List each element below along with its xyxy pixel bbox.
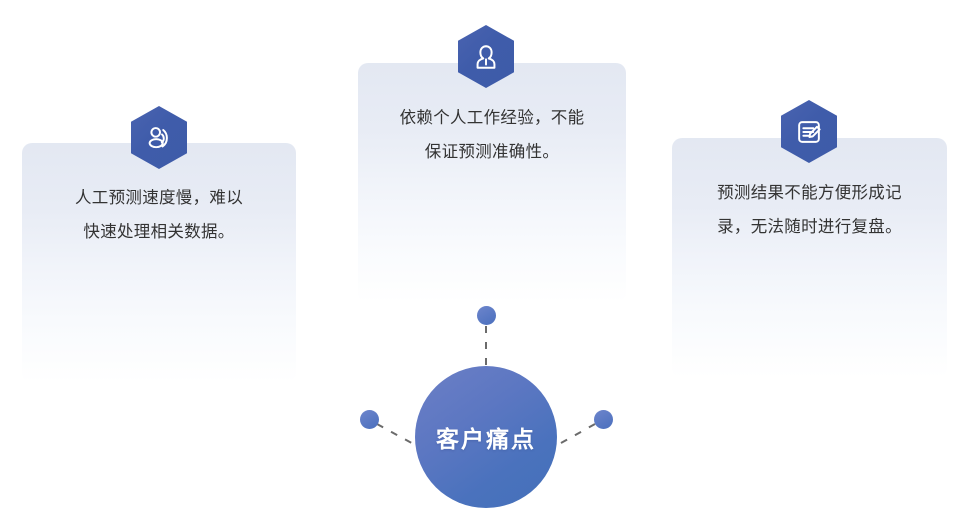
pain-point-card-2[interactable]: 依赖个人工作经验，不能 保证预测准确性。 (358, 63, 626, 303)
pain-point-card-1-text: 人工预测速度慢，难以 快速处理相关数据。 (22, 181, 296, 249)
infographic-canvas: 人工预测速度慢，难以 快速处理相关数据。 依赖个人工作经验，不能 保证预测准确性… (0, 0, 969, 522)
pain-point-card-3-text: 预测结果不能方便形成记 录，无法随时进行复盘。 (672, 176, 947, 244)
center-hub[interactable]: 客户痛点 (415, 366, 557, 508)
pain-point-card-2-text: 依赖个人工作经验，不能 保证预测准确性。 (358, 101, 626, 169)
pain-point-card-3[interactable]: 预测结果不能方便形成记 录，无法随时进行复盘。 (672, 138, 947, 378)
connector-dot-left (360, 410, 379, 429)
center-hub-label: 客户痛点 (436, 420, 536, 454)
connector-dot-right (594, 410, 613, 429)
pain-point-card-1[interactable]: 人工预测速度慢，难以 快速处理相关数据。 (22, 143, 296, 383)
connector-dot-top (477, 306, 496, 325)
